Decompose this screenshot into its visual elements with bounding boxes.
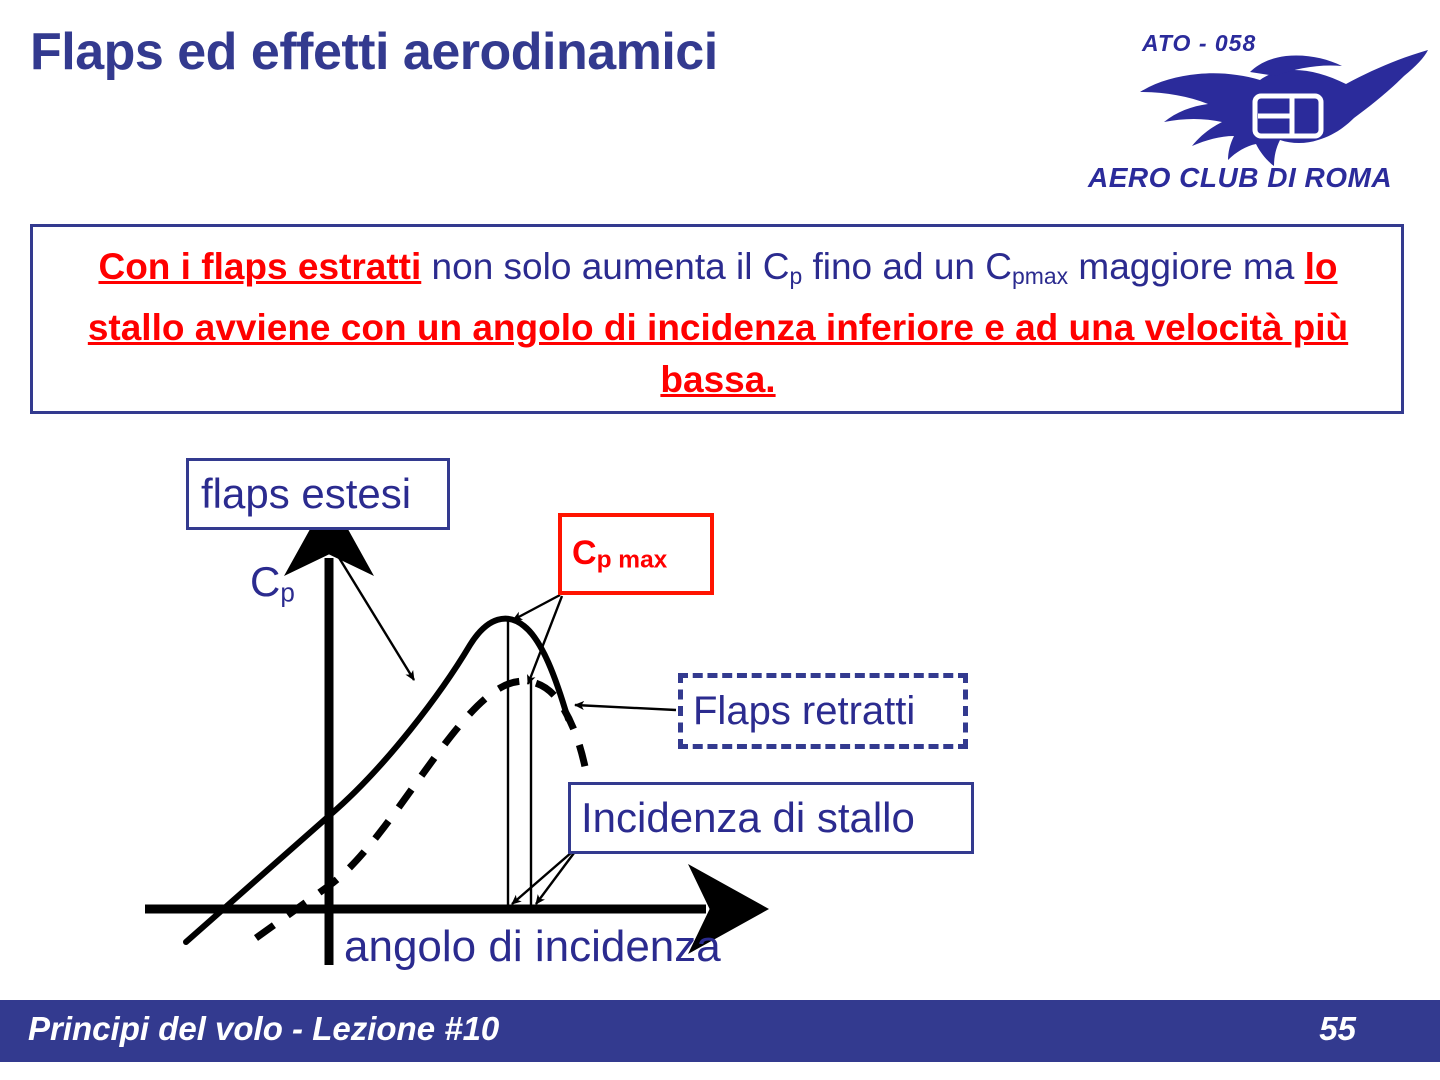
y-axis-label: Cp (250, 558, 295, 609)
leader-flaps-retratti (575, 705, 676, 710)
label-incidenza-text: Incidenza di stallo (581, 794, 915, 842)
label-flaps-estesi-text: flaps estesi (201, 470, 411, 518)
statement-plain-1: non solo aumenta il C (421, 246, 789, 287)
footer-bar: Principi del volo - Lezione #10 55 (0, 1000, 1440, 1062)
label-flaps-estesi[interactable]: flaps estesi (186, 458, 450, 530)
statement-plain-3: maggiore ma (1068, 246, 1305, 287)
page-title: Flaps ed effetti aerodinamici (30, 22, 718, 82)
label-cp-max[interactable]: Cp max (558, 513, 714, 595)
leader-flaps-estesi (322, 530, 414, 680)
logo-club-name: AERO CLUB DI ROMA (1088, 162, 1392, 194)
label-flaps-retratti[interactable]: Flaps retratti (678, 673, 968, 749)
label-flaps-retratti-text: Flaps retratti (693, 689, 915, 734)
footer-course-title: Principi del volo - Lezione #10 (28, 1010, 499, 1048)
aero-club-logo: ATO - 058 AERO CLUB DI ROMA (1080, 14, 1430, 204)
curve-flaps-estesi (186, 619, 568, 942)
eagle-icon (1080, 48, 1430, 178)
statement-highlight-1: Con i flaps estratti (98, 246, 421, 287)
statement-text: Con i flaps estratti non solo aumenta il… (55, 241, 1381, 406)
statement-plain-2: fino ad un C (802, 246, 1012, 287)
statement-box: Con i flaps estratti non solo aumenta il… (30, 224, 1404, 414)
label-cp-max-text: Cp max (572, 534, 667, 574)
cp-vs-alpha-chart: flaps estesi Cp max Flaps retratti Incid… (0, 430, 1010, 990)
statement-sub-p: p (789, 263, 802, 289)
label-incidenza-di-stallo[interactable]: Incidenza di stallo (568, 782, 974, 854)
footer-page-number: 55 (1319, 1010, 1356, 1048)
x-axis-label: angolo di incidenza (344, 922, 721, 972)
statement-sub-pmax: pmax (1012, 263, 1068, 289)
